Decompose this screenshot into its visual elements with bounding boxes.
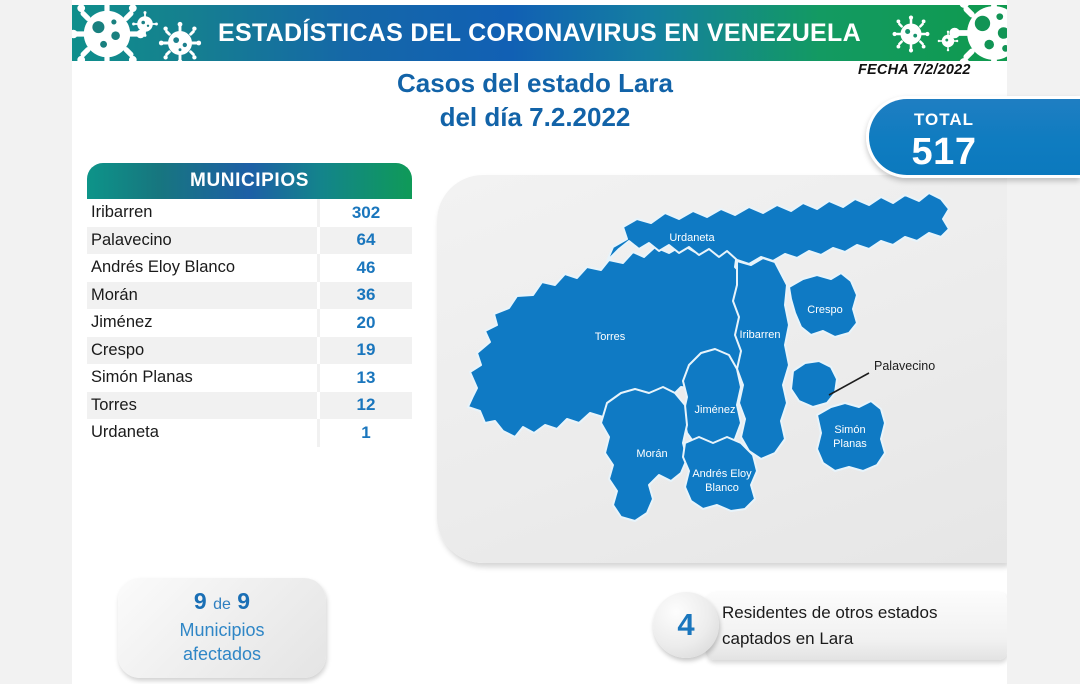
municipio-name: Urdaneta [87,419,320,447]
page-title-line2: del día 7.2.2022 [300,100,770,134]
affected-de: de [213,596,231,613]
municipios-table: MUNICIPIOS Iribarren 302 Palavecino 64 A… [87,163,412,447]
map-label-simon: Simón [834,424,865,436]
municipio-name: Jiménez [87,309,320,337]
municipio-value: 13 [320,368,412,388]
map-region-iribarren[interactable] [733,258,789,459]
map-label-jimenez: Jiménez [695,404,736,416]
page-title-line1: Casos del estado Lara [300,66,770,100]
affected-municipalities-card: 9 de 9 Municipios afectados [118,578,326,678]
lara-state-map: Urdaneta Torres Iribarren Crespo Jiménez… [437,175,1007,563]
affected-label-line2: afectados [118,642,326,666]
municipio-name: Morán [87,282,320,310]
municipio-value: 12 [320,395,412,415]
municipio-value: 46 [320,258,412,278]
poster-canvas: ESTADÍSTICAS DEL CORONAVIRUS EN VENEZUEL… [0,0,1080,684]
table-row: Crespo 19 [87,337,412,365]
map-label-torres: Torres [595,331,626,343]
header-banner: ESTADÍSTICAS DEL CORONAVIRUS EN VENEZUEL… [72,5,1007,61]
residents-line1: Residentes de otros estados [722,600,1012,626]
affected-label-line1: Municipios [118,618,326,642]
table-row: Andrés Eloy Blanco 46 [87,254,412,282]
municipio-name: Crespo [87,337,320,365]
municipio-name: Andrés Eloy Blanco [87,254,320,282]
table-row: Torres 12 [87,392,412,420]
residents-line2: captados en Lara [722,626,1012,652]
municipio-name: Iribarren [87,199,320,227]
municipio-value: 302 [320,203,412,223]
table-row: Palavecino 64 [87,227,412,255]
table-row: Morán 36 [87,282,412,310]
municipio-value: 64 [320,230,412,250]
map-label-andres-eloy: Andrés Eloy [692,468,752,480]
map-region-palavecino[interactable] [791,361,837,407]
map-label-blanco: Blanco [705,482,739,494]
map-label-palavecino: Palavecino [874,359,935,373]
municipio-name: Torres [87,392,320,420]
banner-title: ESTADÍSTICAS DEL CORONAVIRUS EN VENEZUEL… [72,5,1007,61]
table-row: Iribarren 302 [87,199,412,227]
page-title: Casos del estado Lara del día 7.2.2022 [300,66,770,134]
total-badge: TOTAL 517 [866,96,1080,178]
affected-total: 9 [237,588,250,614]
affected-count: 9 [194,588,207,614]
municipio-value: 20 [320,313,412,333]
municipio-value: 19 [320,340,412,360]
municipio-name: Simón Planas [87,364,320,392]
residents-count-circle: 4 [653,592,719,658]
table-row: Jiménez 20 [87,309,412,337]
municipio-value: 36 [320,285,412,305]
table-row: Simón Planas 13 [87,364,412,392]
map-region-simon-planas[interactable] [817,401,885,471]
municipio-name: Palavecino [87,227,320,255]
map-label-urdaneta: Urdaneta [669,232,715,244]
total-label: TOTAL [869,110,1019,130]
map-label-iribarren: Iribarren [740,329,781,341]
map-label-crespo: Crespo [807,304,842,316]
map-label-moran: Morán [636,448,667,460]
table-row: Urdaneta 1 [87,419,412,447]
date-label: FECHA 7/2/2022 [858,62,971,78]
municipio-value: 1 [320,423,412,443]
total-value: 517 [869,131,1019,174]
table-header: MUNICIPIOS [87,163,412,199]
affected-count-line: 9 de 9 [118,578,326,618]
map-label-planas: Planas [833,438,867,450]
residents-text: Residentes de otros estados captados en … [722,600,1012,652]
